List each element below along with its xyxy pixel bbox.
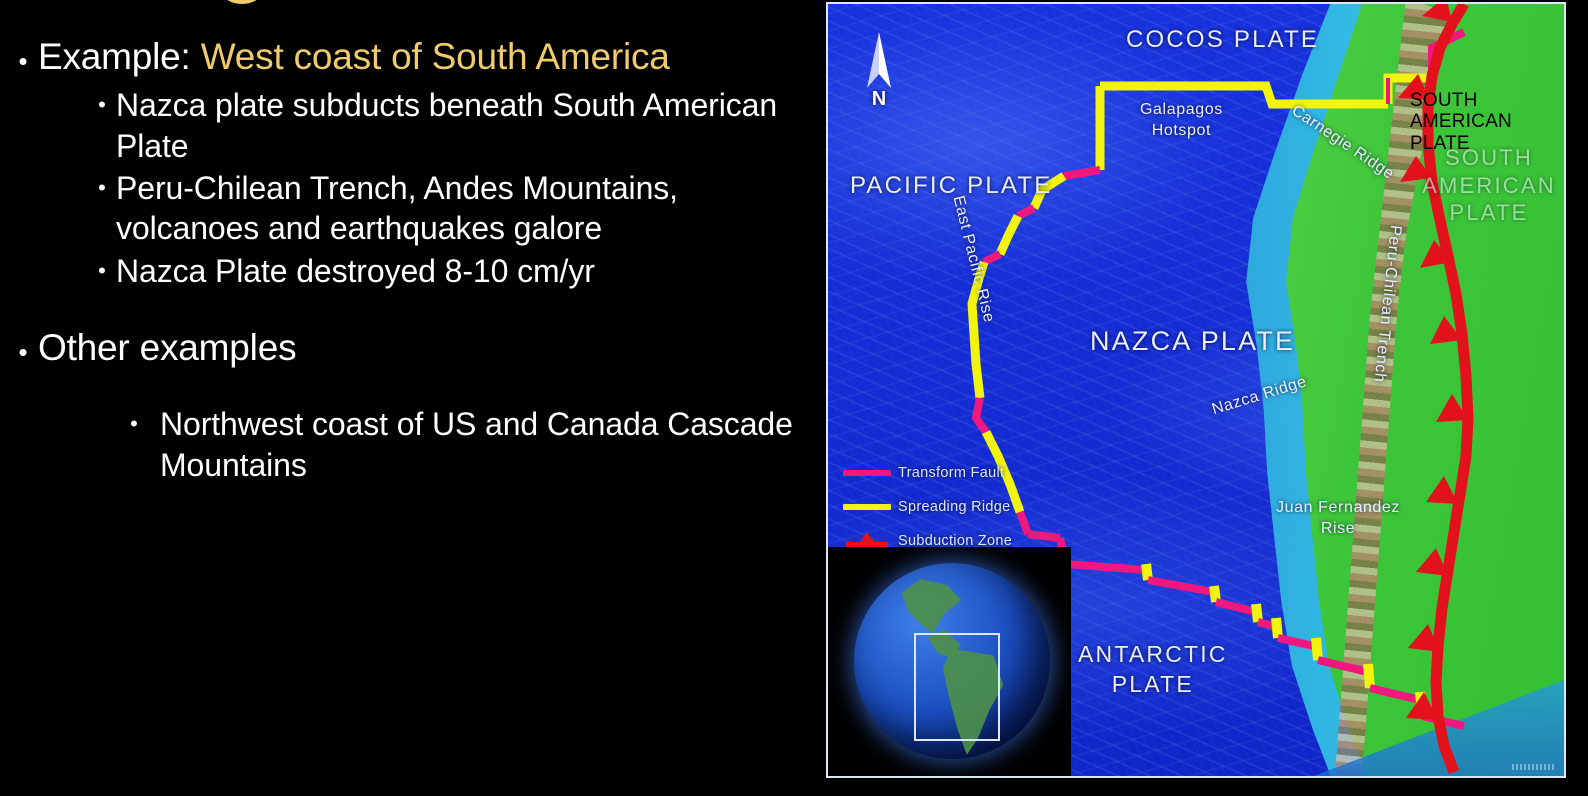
bullet-item-cascades: • Northwest coast of US and Canada Casca… (108, 404, 800, 485)
map-credit-mark (1512, 764, 1554, 770)
legend-item-transform-fault: Transform Fault (836, 456, 1056, 490)
legend-item-spreading-ridge: Spreading Ridge (836, 490, 1056, 524)
bullet-marker: • (8, 36, 38, 74)
bullet-text-prefix: Example: (38, 36, 201, 77)
slide-canvas: • Example: West coast of South America •… (0, 0, 1588, 796)
overlay-label-south-american-plate: SOUTH AMERICAN PLATE (1410, 90, 1512, 154)
locator-box (914, 633, 1000, 741)
bullet-marker: • (88, 85, 116, 116)
legend-label: Transform Fault (898, 465, 1004, 481)
bullet-list: • Example: West coast of South America •… (0, 36, 800, 736)
compass-rose: N (852, 30, 906, 116)
bullet-item-destroyed-rate: • Nazca Plate destroyed 8-10 cm/yr (88, 251, 800, 291)
bullet-text: Other examples (38, 327, 800, 368)
bullet-item-nazca-subducts: • Nazca plate subducts beneath South Ame… (88, 85, 800, 166)
compass-north-label: N (852, 88, 906, 111)
transform-fault-swatch-icon (836, 470, 898, 476)
title-fragment (222, 0, 262, 4)
globe-locator-inset (828, 547, 1071, 776)
bullet-item-example: • Example: West coast of South America (8, 36, 800, 77)
bullet-marker: • (108, 404, 160, 435)
bullet-text-highlight: West coast of South America (201, 36, 670, 77)
globe-graphic (854, 563, 1050, 759)
bullet-text: Example: West coast of South America (38, 36, 800, 77)
bullet-text: Peru-Chilean Trench, Andes Mountains, vo… (116, 168, 800, 249)
bullet-text: Nazca Plate destroyed 8-10 cm/yr (116, 251, 800, 291)
bullet-marker: • (8, 327, 38, 365)
spacer (0, 293, 800, 327)
bullet-item-other-examples: • Other examples (8, 327, 800, 368)
bullet-item-trench-andes: • Peru-Chilean Trench, Andes Mountains, … (88, 168, 800, 249)
bullet-marker: • (88, 168, 116, 199)
tectonic-plate-map: N PACIFIC PLATE COCOS PLATE NAZCA PLATE … (828, 4, 1564, 776)
spreading-ridge-galapagos (1100, 78, 1432, 164)
bullet-marker: • (88, 251, 116, 282)
map-legend: Transform Fault Spreading Ridge Subducti… (836, 456, 1056, 558)
spacer (0, 370, 800, 404)
north-america-shape (898, 579, 964, 641)
bullet-text: Nazca plate subducts beneath South Ameri… (116, 85, 800, 166)
spreading-ridge-swatch-icon (836, 504, 898, 510)
bullet-text: Northwest coast of US and Canada Cascade… (160, 404, 800, 485)
north-arrow-icon (862, 30, 896, 92)
chile-rise-boundary (1020, 512, 1464, 726)
legend-label: Spreading Ridge (898, 499, 1011, 515)
